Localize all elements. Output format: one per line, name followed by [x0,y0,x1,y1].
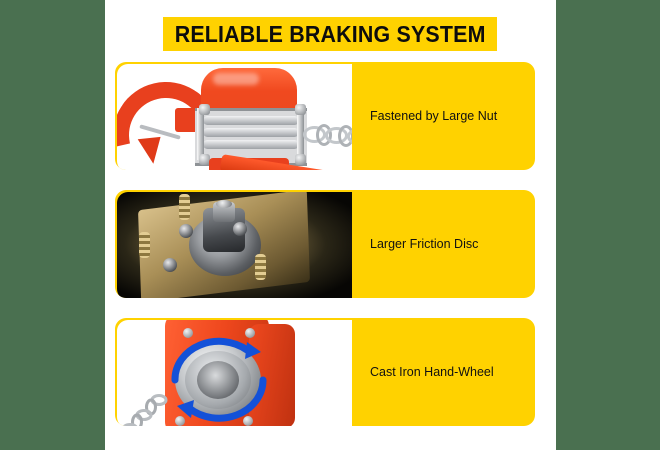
feature-panel-1: Fastened by Large Nut [115,62,535,170]
page-title: RELIABLE BRAKING SYSTEM [175,21,486,48]
roller-3 [203,140,299,149]
hook-tip-icon [138,137,164,165]
cap-highlight [213,73,259,85]
feature-panel-2: Larger Friction Disc [115,190,535,298]
pawl-pin [179,224,193,238]
roller-2 [203,128,299,137]
friction-disc-photo [117,192,352,298]
content-card: RELIABLE BRAKING SYSTEM [105,0,556,450]
feature-caption-wrap-3: Cast Iron Hand-Wheel [352,318,535,426]
feature-caption-3: Cast Iron Hand-Wheel [370,365,494,380]
title-banner: RELIABLE BRAKING SYSTEM [163,17,497,51]
spring-icon [255,254,266,280]
bolt-icon [199,104,210,115]
spring-icon [179,194,190,220]
feature-caption-wrap-1: Fastened by Large Nut [352,62,535,170]
brake-shaft-top [216,200,232,208]
frame-post-left [197,108,204,160]
feature-caption-2: Larger Friction Disc [370,237,478,252]
hand-chain [123,394,169,426]
bolt-icon [295,104,306,115]
hand-wheel-photo [117,320,352,426]
bolt-icon [295,154,306,165]
load-chain [303,116,352,152]
pawl-pin [233,222,247,236]
pawl-pin [163,258,177,272]
lever-hoist-body-photo [117,64,352,170]
feature-caption-1: Fastened by Large Nut [370,109,497,124]
marketing-image: RELIABLE BRAKING SYSTEM [0,0,660,450]
rotation-arrow-icon [167,334,271,426]
roller-1 [203,116,299,125]
feature-caption-wrap-2: Larger Friction Disc [352,190,535,298]
spring-icon [139,232,150,258]
feature-panel-3: Cast Iron Hand-Wheel [115,318,535,426]
